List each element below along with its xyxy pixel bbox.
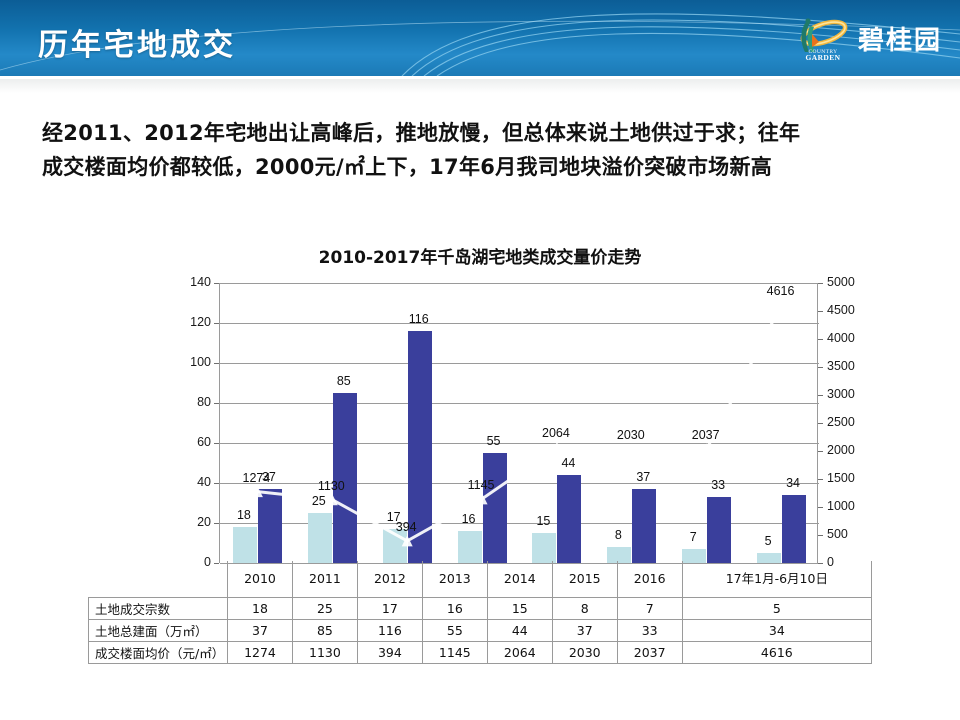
y-axis-tick — [214, 363, 219, 364]
bar-label-land-count: 7 — [671, 530, 715, 544]
table-row: 土地总建面（万㎡）37851165544373334 — [89, 620, 872, 642]
table-cell: 8 — [552, 598, 617, 620]
table-column-header: 2013 — [422, 561, 487, 598]
category-separator — [520, 283, 521, 563]
table-cell: 37 — [228, 620, 293, 642]
table-cell: 2030 — [552, 642, 617, 664]
y2-axis-tick-label: 2000 — [827, 443, 867, 457]
bar-label-total-area: 116 — [397, 312, 441, 326]
y2-axis-tick — [818, 283, 823, 284]
bar-land-count — [532, 533, 556, 563]
table-cell: 34 — [682, 620, 871, 642]
bar-label-total-area: 33 — [696, 478, 740, 492]
y2-axis-tick-label: 2500 — [827, 415, 867, 429]
price-point-label: 4616 — [751, 284, 811, 298]
table-column-header: 2016 — [617, 561, 682, 598]
category-separator — [744, 283, 745, 563]
table-column-header: 17年1月-6月10日 — [682, 561, 871, 598]
table-cell: 85 — [292, 620, 357, 642]
bar-label-land-count: 15 — [521, 514, 565, 528]
price-line-marker — [701, 443, 712, 454]
bar-total-area — [782, 495, 806, 563]
price-point-label: 2064 — [526, 426, 586, 440]
bar-label-land-count: 16 — [447, 512, 491, 526]
y2-axis-tick — [818, 451, 823, 452]
gridline — [220, 523, 819, 524]
table-column-header: 2014 — [487, 561, 552, 598]
chart-title: 2010-2017年千岛湖宅地类成交量价走势 — [0, 243, 960, 268]
y2-axis-tick — [818, 507, 823, 508]
y2-axis-tick-label: 500 — [827, 527, 867, 541]
category-separator — [295, 283, 296, 563]
price-line-marker — [551, 442, 562, 453]
bar-label-land-count: 17 — [372, 510, 416, 524]
table-cell: 7 — [617, 598, 682, 620]
table-cell: 5 — [682, 598, 871, 620]
table-column-header: 2011 — [292, 561, 357, 598]
price-line-marker — [327, 494, 338, 505]
bar-label-total-area: 55 — [472, 434, 516, 448]
table-row: 土地成交宗数1825171615875 — [89, 598, 872, 620]
y-axis-tick — [214, 403, 219, 404]
table-cell: 37 — [552, 620, 617, 642]
lead-paragraph: 经2011、2012年宅地出让高峰后，推地放慢，但总体来说土地供过于求；往年 成… — [42, 116, 922, 184]
y-axis-tick — [214, 323, 219, 324]
table-column-header: 2010 — [228, 561, 293, 598]
table-column-header: 2015 — [552, 561, 617, 598]
price-point-label: 1274 — [226, 471, 286, 485]
table-row: 成交楼面均价（元/㎡）12741130394114520642030203746… — [89, 642, 872, 664]
price-point-label: 394 — [376, 520, 436, 534]
table-cell: 1130 — [292, 642, 357, 664]
y2-axis-tick-label: 3500 — [827, 359, 867, 373]
bar-total-area — [707, 497, 731, 563]
y-axis-tick — [214, 483, 219, 484]
lead-line-2: 成交楼面均价都较低，2000元/㎡上下，17年6月我司地块溢价突破市场新高 — [42, 150, 922, 184]
bar-total-area — [333, 393, 357, 563]
y2-axis-tick — [818, 367, 823, 368]
table-row-label: 土地总建面（万㎡） — [89, 620, 228, 642]
table-cell: 25 — [292, 598, 357, 620]
brand-name: 碧桂园 — [858, 20, 942, 57]
bar-label-total-area: 34 — [771, 476, 815, 490]
table-column-header: 2012 — [357, 561, 422, 598]
bar-total-area — [408, 331, 432, 563]
gridline — [220, 363, 819, 364]
y-axis-tick-label: 120 — [173, 315, 211, 329]
table-cell: 4616 — [682, 642, 871, 664]
y2-axis-tick-label: 1000 — [827, 499, 867, 513]
y2-axis-tick-label: 1500 — [827, 471, 867, 485]
bar-land-count — [383, 529, 407, 563]
y-axis-tick-label: 100 — [173, 355, 211, 369]
brand-logo: COUNTRY GARDEN 碧桂园 — [788, 14, 942, 62]
category-separator — [370, 283, 371, 563]
y-axis-tick-label: 60 — [173, 435, 211, 449]
table-row-label: 成交楼面均价（元/㎡） — [89, 642, 228, 664]
category-separator — [445, 283, 446, 563]
y-axis-tick-label: 40 — [173, 475, 211, 489]
price-point-label: 1145 — [451, 478, 511, 492]
gridline — [220, 483, 819, 484]
plot-area — [219, 283, 818, 563]
price-point-label: 2037 — [676, 428, 736, 442]
y-axis-tick — [214, 443, 219, 444]
gridline — [220, 443, 819, 444]
price-line-marker — [776, 299, 787, 310]
table-cell: 2037 — [617, 642, 682, 664]
bar-land-count — [233, 527, 257, 563]
table-cell: 394 — [357, 642, 422, 664]
y2-axis-tick — [818, 535, 823, 536]
table-cell: 55 — [422, 620, 487, 642]
bar-label-land-count: 25 — [297, 494, 341, 508]
y-axis-tick — [214, 283, 219, 284]
bar-label-total-area: 85 — [322, 374, 366, 388]
table-cell: 18 — [228, 598, 293, 620]
table-cell: 1274 — [228, 642, 293, 664]
bar-label-total-area: 37 — [621, 470, 665, 484]
bar-label-land-count: 18 — [222, 508, 266, 522]
price-line-series — [220, 283, 819, 563]
y-axis-tick-label: 20 — [173, 515, 211, 529]
page-header: 历年宅地成交 COUNTRY GARDEN 碧桂园 — [0, 0, 960, 76]
table-cell: 44 — [487, 620, 552, 642]
y2-axis-tick — [818, 395, 823, 396]
y2-axis-tick-label: 3000 — [827, 387, 867, 401]
bar-label-total-area: 37 — [247, 470, 291, 484]
country-garden-emblem-icon: COUNTRY GARDEN — [788, 14, 850, 62]
table-cell: 33 — [617, 620, 682, 642]
lead-line-1: 经2011、2012年宅地出让高峰后，推地放慢，但总体来说土地供过于求；往年 — [42, 116, 922, 150]
y2-axis-tick — [818, 339, 823, 340]
y2-axis-tick-label: 4000 — [827, 331, 867, 345]
price-line-marker — [252, 486, 263, 497]
price-line-marker — [477, 493, 488, 504]
price-line-marker — [402, 535, 413, 546]
table-corner-cell — [89, 561, 228, 598]
category-separator — [594, 283, 595, 563]
data-table: 201020112012201320142015201617年1月-6月10日土… — [88, 561, 872, 664]
gridline — [220, 323, 819, 324]
bar-total-area — [258, 489, 282, 563]
bar-total-area — [632, 489, 656, 563]
page-title: 历年宅地成交 — [38, 20, 236, 64]
table-header-row: 201020112012201320142015201617年1月-6月10日 — [89, 561, 872, 598]
bar-label-total-area: 44 — [546, 456, 590, 470]
bar-total-area — [483, 453, 507, 563]
gridline — [220, 403, 819, 404]
y-axis-tick-label: 80 — [173, 395, 211, 409]
price-point-label: 2030 — [601, 428, 661, 442]
table-cell: 16 — [422, 598, 487, 620]
bar-land-count — [458, 531, 482, 563]
table-cell: 17 — [357, 598, 422, 620]
table-cell: 2064 — [487, 642, 552, 664]
category-separator — [669, 283, 670, 563]
bar-land-count — [308, 513, 332, 563]
y2-axis-tick — [818, 479, 823, 480]
table-cell: 15 — [487, 598, 552, 620]
bar-label-land-count: 5 — [746, 534, 790, 548]
price-line-marker — [626, 444, 637, 455]
table-row-label: 土地成交宗数 — [89, 598, 228, 620]
y2-axis-tick — [818, 423, 823, 424]
bar-label-land-count: 8 — [596, 528, 640, 542]
gridline — [220, 283, 819, 284]
svg-text:GARDEN: GARDEN — [806, 53, 841, 62]
table-cell: 1145 — [422, 642, 487, 664]
y-axis-tick — [214, 523, 219, 524]
y2-axis-tick-label: 4500 — [827, 303, 867, 317]
y2-axis-tick — [818, 311, 823, 312]
header-shadow-band — [0, 79, 960, 93]
table-cell: 116 — [357, 620, 422, 642]
price-point-label: 1130 — [301, 479, 361, 493]
y2-axis-tick-label: 5000 — [827, 275, 867, 289]
bar-total-area — [557, 475, 581, 563]
y-axis-tick-label: 140 — [173, 275, 211, 289]
